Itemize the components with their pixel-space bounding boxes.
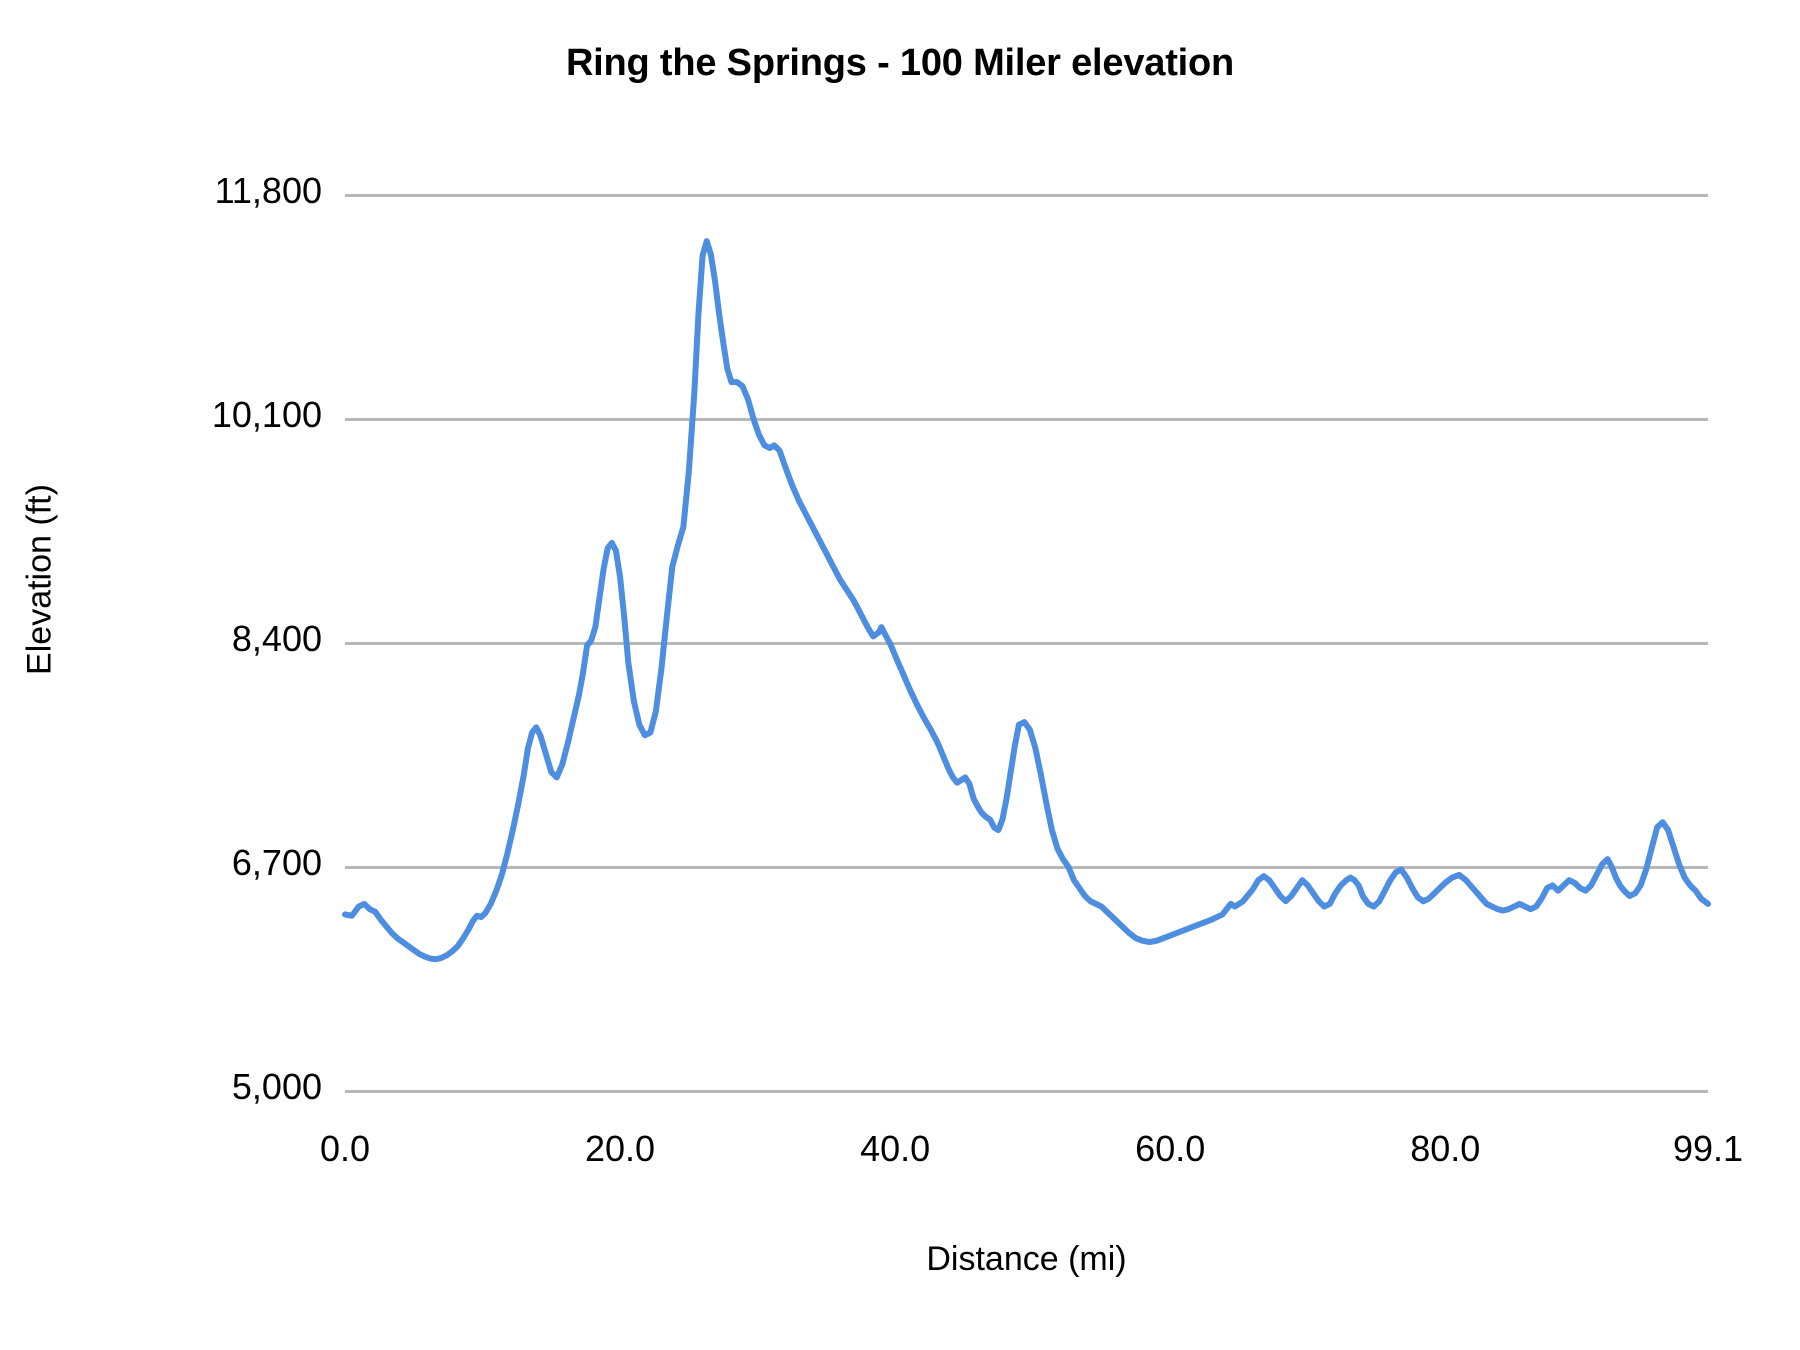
y-tick-label: 10,100 [0,394,322,436]
x-tick-label: 80.0 [1335,1128,1555,1170]
x-tick-label: 99.1 [1598,1128,1800,1170]
x-tick-label: 20.0 [510,1128,730,1170]
plot-area [345,195,1708,1091]
y-tick-label: 5,000 [0,1066,322,1108]
x-tick-label: 60.0 [1060,1128,1280,1170]
x-tick-label: 40.0 [785,1128,1005,1170]
x-tick-label: 0.0 [235,1128,455,1170]
chart-container: Ring the Springs - 100 Miler elevation E… [0,0,1800,1350]
elevation-line-path [345,241,1708,959]
y-axis-title: Elevation (ft) [21,450,60,710]
y-tick-label: 6,700 [0,842,322,884]
series-line-elevation [345,195,1708,1091]
y-tick-label: 11,800 [0,170,322,212]
x-axis-title: Distance (mi) [345,1240,1708,1279]
y-tick-label: 8,400 [0,618,322,660]
chart-title: Ring the Springs - 100 Miler elevation [0,42,1800,85]
